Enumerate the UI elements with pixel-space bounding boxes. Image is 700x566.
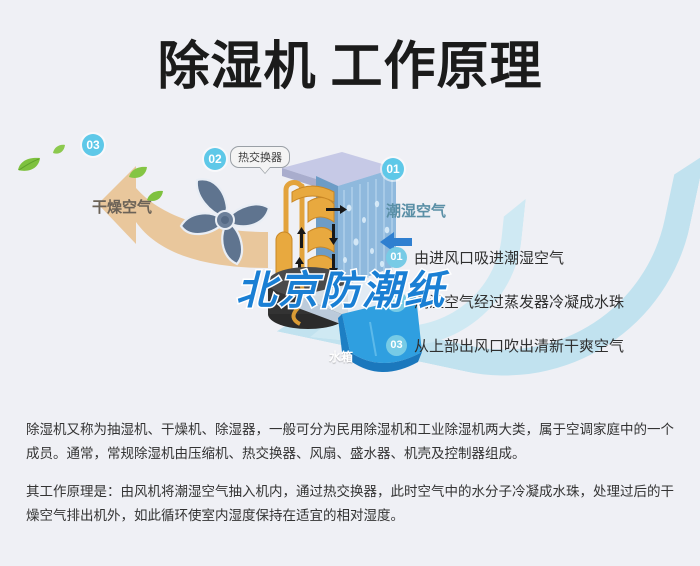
label-humid-air: 潮湿空气 xyxy=(386,200,446,221)
label-dry-air: 干燥空气 xyxy=(92,196,152,217)
step-badge: 03 xyxy=(386,335,407,356)
description-paragraph-2: 其工作原理是：由风机将潮湿空气抽入机内，通过热交换器，此时空气中的水分子冷凝成水… xyxy=(26,480,678,528)
badge-dry-air: 03 xyxy=(82,134,104,156)
step-text: 从上部出风口吹出清新干爽空气 xyxy=(414,335,624,356)
description-paragraph-1: 除湿机又称为抽湿机、干燥机、除湿器，一般可分为民用除湿机和工业除湿机两大类，属于… xyxy=(26,418,678,466)
label-water-tank: 水箱 xyxy=(329,348,353,365)
badge-humid-air: 01 xyxy=(382,158,404,180)
title-part-1: 除湿机 xyxy=(157,38,316,96)
leaf-icon xyxy=(52,144,66,155)
leaf-icon xyxy=(128,166,148,180)
description-text: 除湿机又称为抽湿机、干燥机、除湿器，一般可分为民用除湿机和工业除湿机两大类，属于… xyxy=(26,418,678,528)
callout-heat-exchanger-label: 热交换器 xyxy=(238,152,282,164)
badge-heat-exchanger: 02 xyxy=(204,148,226,170)
callout-tail-icon xyxy=(259,167,271,174)
list-item: 03 从上部出风口吹出清新干爽空气 xyxy=(386,328,686,362)
watermark: 北京防潮纸 xyxy=(236,258,446,316)
callout-heat-exchanger: 热交换器 xyxy=(230,146,290,168)
leaf-icon xyxy=(16,156,42,174)
infographic-page: 除湿机工作原理 xyxy=(0,0,700,566)
